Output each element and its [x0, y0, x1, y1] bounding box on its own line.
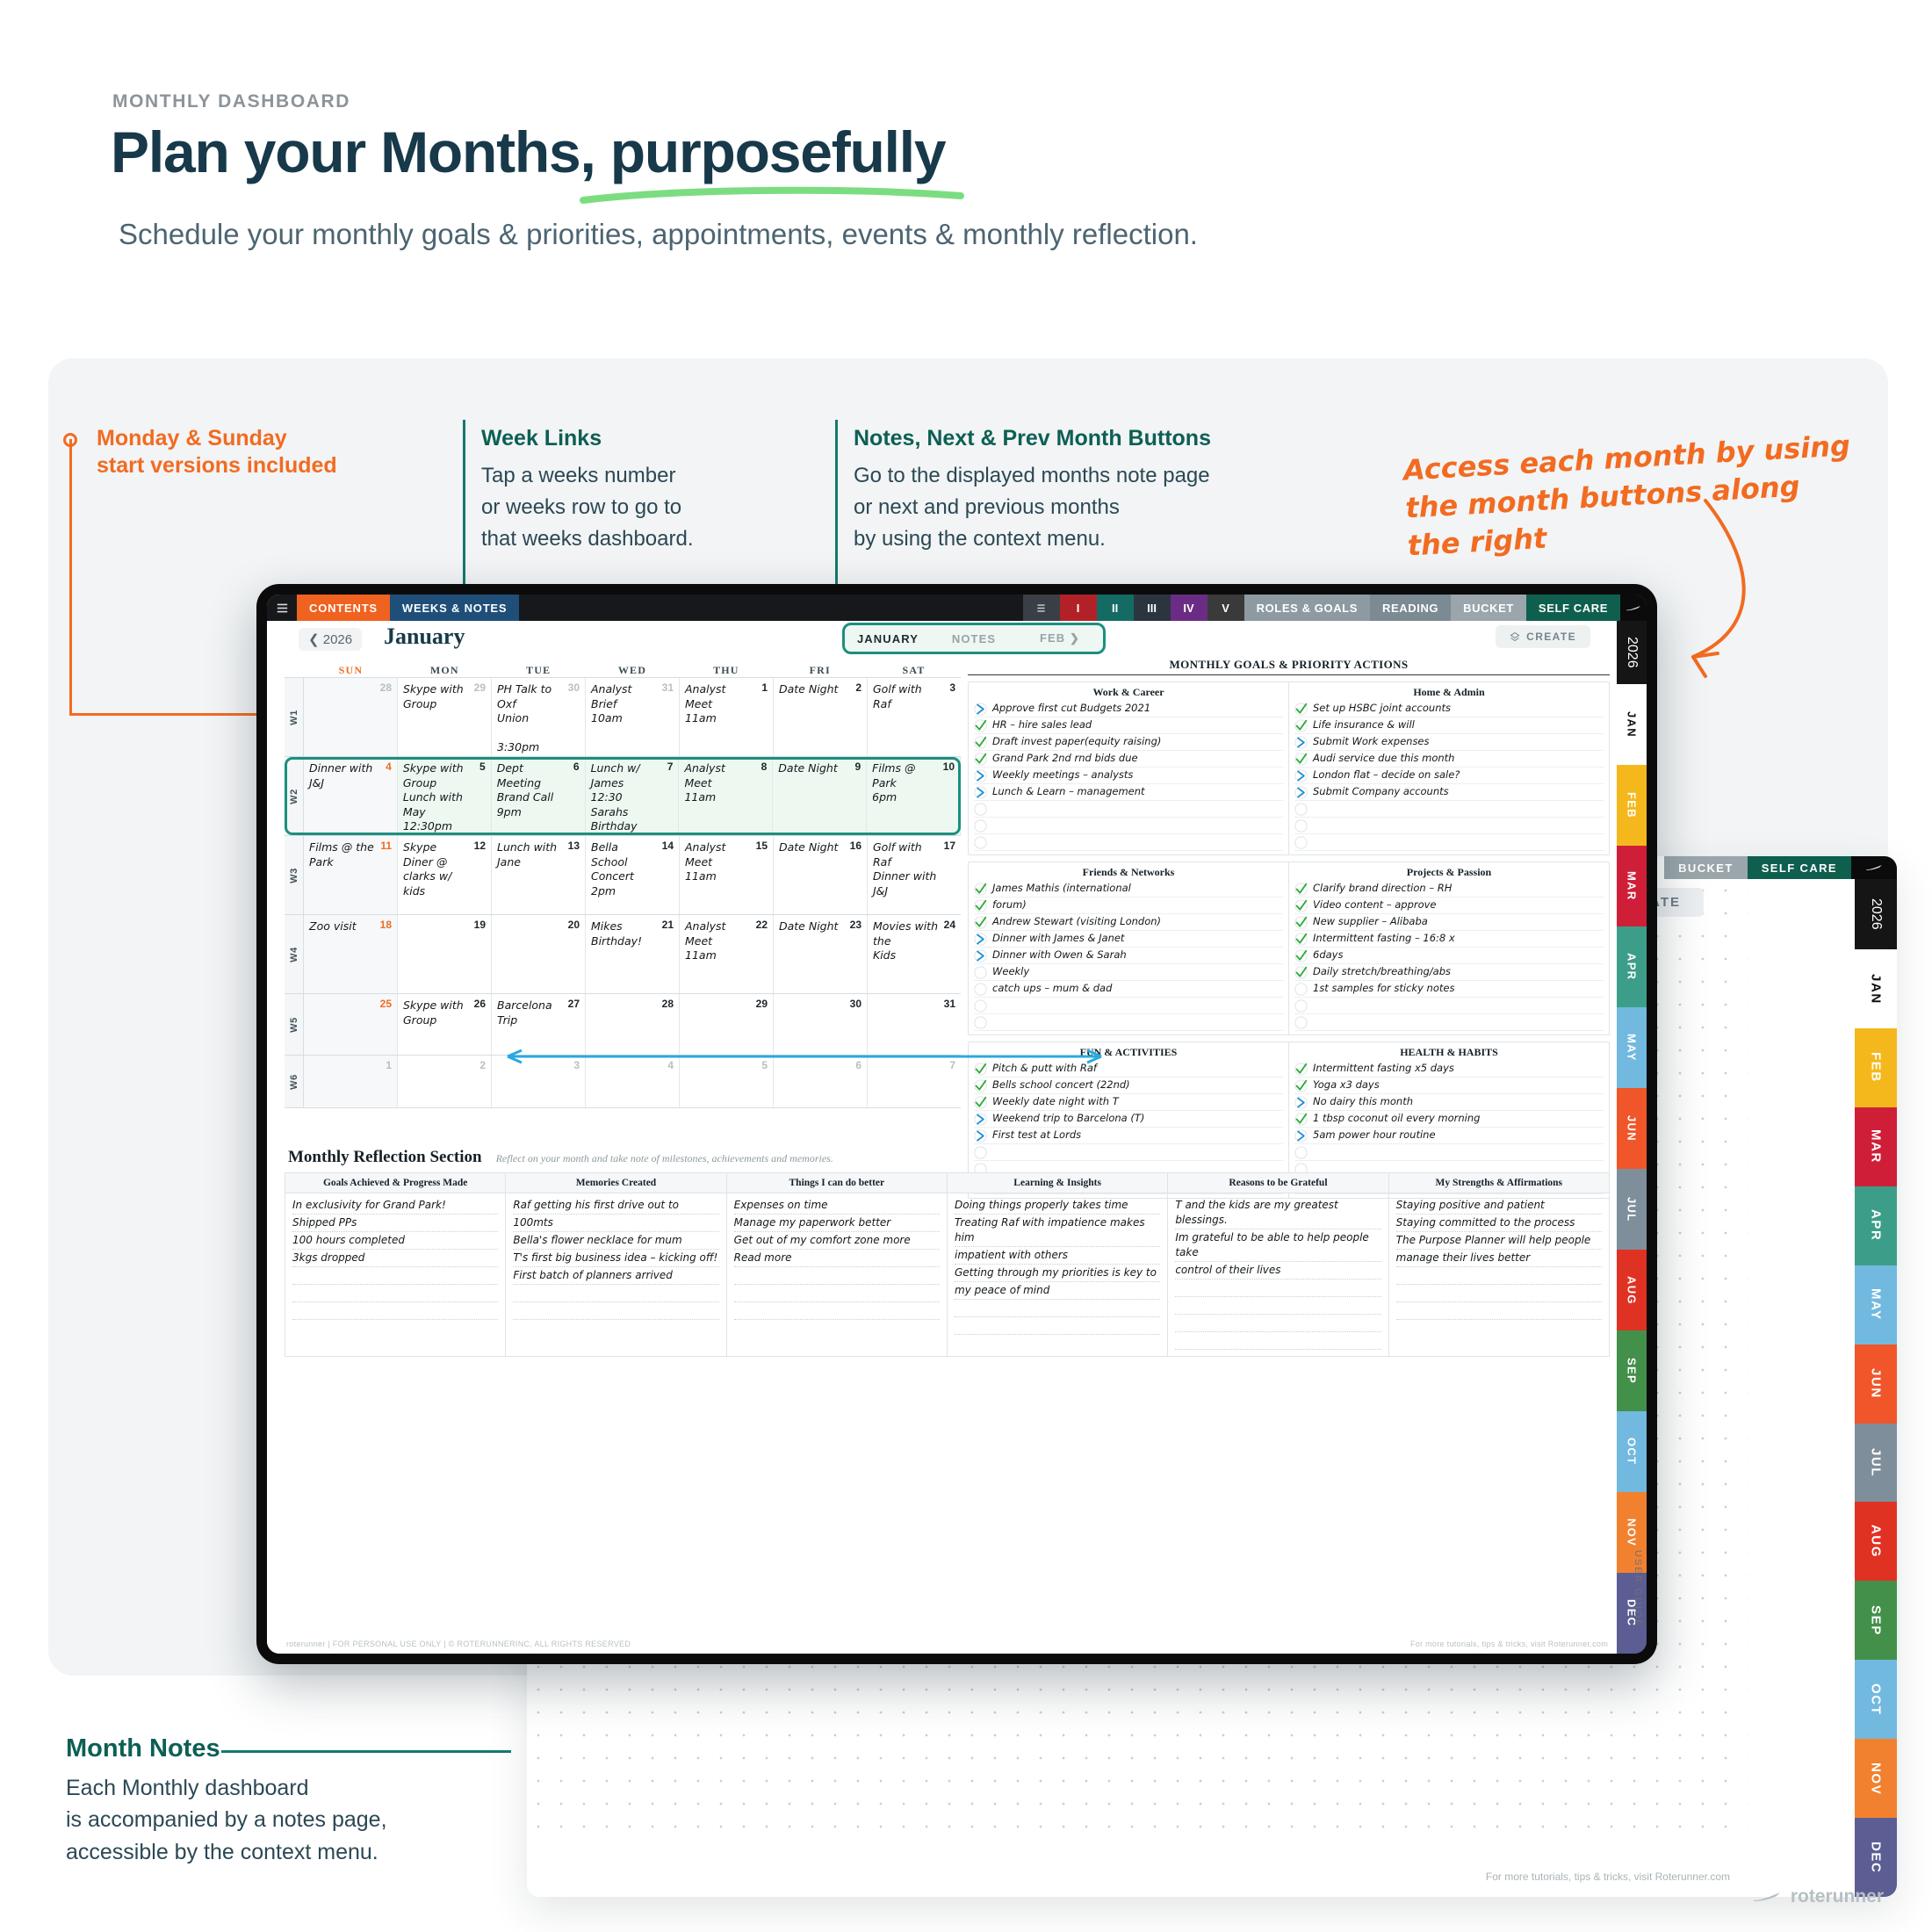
goal-item[interactable]: 6days	[1294, 948, 1604, 964]
toolbar-weeks-notes-button[interactable]: WEEKS & NOTES	[390, 595, 519, 621]
goal-item[interactable]	[974, 818, 1283, 834]
reflection-line[interactable]	[292, 1302, 498, 1320]
reflection-line[interactable]: Get out of my comfort zone more	[734, 1232, 940, 1250]
month-tab-sep[interactable]: SEP	[1617, 1330, 1647, 1411]
goal-item[interactable]: James Mathis (international	[974, 881, 1283, 898]
month-tab-oct[interactable]: OCT	[1617, 1411, 1647, 1492]
reflection-line[interactable]	[1175, 1280, 1381, 1297]
goal-item[interactable]: Daily stretch/breathing/abs	[1294, 964, 1604, 981]
reflection-line[interactable]	[1175, 1332, 1381, 1350]
context-menu-next-month[interactable]: FEB ❯	[1017, 631, 1103, 645]
reflection-line[interactable]: Staying positive and patient	[1396, 1197, 1602, 1215]
month-tab-mar[interactable]: MAR	[1617, 846, 1647, 926]
empty-circle-icon[interactable]	[974, 819, 987, 833]
reflection-lines[interactable]: T and the kids are my greatest blessings…	[1168, 1193, 1388, 1353]
calendar-week-row[interactable]: W52526Skype with Group27Barcelona Trip28…	[285, 994, 961, 1056]
calendar-week-row[interactable]: W311Films @ the Park12SkypeDiner @ clark…	[285, 836, 961, 915]
goal-status-marker[interactable]	[974, 736, 987, 749]
toolbar-right-group[interactable]: IIIIIIIVVROLES & GOALSREADINGBUCKETSELF …	[1023, 595, 1647, 621]
reflection-line[interactable]	[1396, 1285, 1602, 1302]
week-link-w1[interactable]: W1	[285, 678, 304, 756]
list-icon[interactable]	[1023, 595, 1060, 621]
goal-status-marker[interactable]	[974, 769, 987, 782]
goal-status-marker[interactable]	[974, 1129, 987, 1143]
goal-status-marker[interactable]	[974, 999, 987, 1013]
day-number[interactable]: 1	[386, 1059, 392, 1071]
reflection-line[interactable]: T's first big business idea – kicking of…	[513, 1250, 718, 1267]
calendar-day-cell[interactable]: 30PH Talk to OxfUnion3:30pm	[492, 678, 586, 756]
month-tab-oct[interactable]: OCT	[1855, 1660, 1897, 1739]
checkmark-icon[interactable]	[1294, 753, 1308, 766]
calendar-day-cell[interactable]: 31Analyst Brief10amBudget Meeting 2pm	[586, 678, 680, 756]
goal-status-marker[interactable]	[974, 836, 987, 849]
year-tab[interactable]: 2026	[1617, 621, 1647, 684]
year-tab[interactable]: 2026	[1855, 879, 1897, 949]
reflection-line[interactable]: 100 hours completed	[292, 1232, 498, 1250]
day-number[interactable]: 16	[850, 840, 861, 852]
goal-item[interactable]: Approve first cut Budgets 2021	[974, 701, 1283, 717]
reflection-line[interactable]: my peace of mind	[955, 1282, 1160, 1300]
goal-item[interactable]	[974, 1014, 1283, 1031]
goal-status-marker[interactable]	[974, 1079, 987, 1092]
empty-circle-icon[interactable]	[974, 999, 987, 1013]
arrow-forward-icon[interactable]	[974, 1129, 987, 1143]
month-tab-jun[interactable]: JUN	[1617, 1088, 1647, 1169]
week-link-w2[interactable]: W2	[285, 757, 304, 835]
goal-status-marker[interactable]	[1294, 1096, 1308, 1109]
reflection-line[interactable]: control of their lives	[1175, 1262, 1381, 1280]
day-number[interactable]: 17	[944, 840, 955, 852]
empty-circle-icon[interactable]	[1294, 983, 1308, 996]
month-tab-jul[interactable]: JUL	[1855, 1424, 1897, 1503]
goal-item[interactable]	[1294, 834, 1604, 851]
month-tab-jun[interactable]: JUN	[1855, 1344, 1897, 1424]
toolbar-section-roles-goals[interactable]: ROLES & GOALS	[1244, 595, 1370, 621]
day-events[interactable]: Lunch w/ James12:30Sarahs Birthday	[591, 761, 674, 834]
day-number[interactable]: 24	[944, 919, 955, 931]
day-events[interactable]: Analyst Meet11am	[685, 682, 768, 726]
reflection-line[interactable]: Im grateful to be able to help people ta…	[1175, 1229, 1381, 1262]
empty-circle-icon[interactable]	[1294, 836, 1308, 849]
goal-status-marker[interactable]	[974, 719, 987, 732]
arrow-forward-icon[interactable]	[1294, 1129, 1308, 1143]
reflection-lines[interactable]: In exclusivity for Grand Park!Shipped PP…	[285, 1193, 505, 1323]
checkmark-icon[interactable]	[974, 1063, 987, 1076]
reflection-line[interactable]: Doing things properly takes time	[955, 1197, 1160, 1215]
reflection-line[interactable]: Getting through my priorities is key to	[955, 1265, 1160, 1282]
calendar-day-cell[interactable]: 7Lunch w/ James12:30Sarahs Birthday	[586, 757, 680, 835]
checkmark-icon[interactable]	[1294, 883, 1308, 896]
day-number[interactable]: 26	[474, 998, 486, 1010]
reflection-line[interactable]	[734, 1285, 940, 1302]
day-events[interactable]: Date Night	[778, 761, 861, 776]
month-tab-apr[interactable]: APR	[1855, 1186, 1897, 1265]
calendar-day-cell[interactable]: 2Date Night	[774, 678, 868, 756]
goal-item[interactable]: Life insurance & will	[1294, 717, 1604, 734]
day-events[interactable]: Date Night	[779, 682, 861, 697]
goal-item[interactable]: Set up HSBC joint accounts	[1294, 701, 1604, 717]
secondary-toolbar-self-care[interactable]: SELF CARE	[1748, 856, 1851, 879]
day-number[interactable]: 29	[756, 998, 768, 1010]
goal-status-marker[interactable]	[1294, 703, 1308, 716]
day-number[interactable]: 10	[943, 761, 955, 773]
reflection-line[interactable]: Manage my paperwork better	[734, 1215, 940, 1232]
goal-status-marker[interactable]	[1294, 753, 1308, 766]
reflection-lines[interactable]: Raf getting his first drive out to100mts…	[506, 1193, 725, 1323]
goal-status-marker[interactable]	[974, 899, 987, 912]
calendar-day-cell[interactable]: 30	[774, 994, 868, 1055]
day-number[interactable]: 2	[855, 681, 861, 694]
arrow-forward-icon[interactable]	[974, 949, 987, 962]
toolbar-numeral-iv[interactable]: IV	[1171, 595, 1207, 621]
checkmark-icon[interactable]	[1294, 703, 1308, 716]
month-tab-aug[interactable]: AUG	[1855, 1502, 1897, 1581]
checkmark-icon[interactable]	[1294, 916, 1308, 929]
calendar-day-cell[interactable]: 19	[398, 915, 492, 993]
goal-status-marker[interactable]	[974, 786, 987, 799]
goal-item[interactable]: Weekly meetings – analysts	[974, 768, 1283, 784]
goal-status-marker[interactable]	[974, 753, 987, 766]
calendar-day-cell[interactable]: 17Golf with RafDinner with J&J	[868, 836, 961, 914]
month-tab-dec[interactable]: DEC	[1855, 1818, 1897, 1897]
calendar-week-row[interactable]: W12829Skype with Group30PH Talk to OxfUn…	[285, 678, 961, 757]
goal-status-marker[interactable]	[974, 1063, 987, 1076]
goals-blocks[interactable]: Work & CareerApprove first cut Budgets 2…	[968, 681, 1610, 1199]
goal-item[interactable]	[1294, 1014, 1604, 1031]
goal-item[interactable]: Yoga x3 days	[1294, 1078, 1604, 1094]
goal-item[interactable]: HR – hire sales lead	[974, 717, 1283, 734]
context-menu-current-month[interactable]: JANUARY	[845, 632, 931, 645]
checkmark-icon[interactable]	[974, 736, 987, 749]
calendar-day-cell[interactable]: 3Golf with Raf	[868, 678, 961, 756]
empty-circle-icon[interactable]	[974, 983, 987, 996]
arrow-forward-icon[interactable]	[1294, 786, 1308, 799]
goal-item[interactable]	[1294, 818, 1604, 834]
month-tab-feb[interactable]: FEB	[1855, 1028, 1897, 1107]
empty-circle-icon[interactable]	[974, 966, 987, 979]
goal-status-marker[interactable]	[1294, 916, 1308, 929]
reflection-lines[interactable]: Expenses on timeManage my paperwork bett…	[727, 1193, 947, 1323]
reflection-line[interactable]: 100mts	[513, 1215, 718, 1232]
month-tab-mar[interactable]: MAR	[1855, 1107, 1897, 1186]
context-menu[interactable]: JANUARY NOTES FEB ❯	[842, 623, 1106, 654]
calendar-day-cell[interactable]: 9Date Night	[773, 757, 867, 835]
calendar-day-cell[interactable]: 1	[304, 1056, 398, 1107]
arrow-forward-icon[interactable]	[974, 933, 987, 946]
toolbar-numeral-v[interactable]: V	[1207, 595, 1244, 621]
reflection-line[interactable]: T and the kids are my greatest blessings…	[1175, 1197, 1381, 1229]
reflection-line[interactable]: impatient with others	[955, 1247, 1160, 1265]
calendar-day-cell[interactable]: 8Analyst Meet11am	[679, 757, 773, 835]
week-link-w4[interactable]: W4	[285, 915, 304, 993]
reflection-line[interactable]	[513, 1302, 718, 1320]
checkmark-icon[interactable]	[1294, 1079, 1308, 1092]
goal-item[interactable]: 1 tbsp coconut oil every morning	[1294, 1111, 1604, 1128]
reflection-line[interactable]	[292, 1285, 498, 1302]
day-number[interactable]: 19	[474, 919, 486, 931]
calendar-day-cell[interactable]: 4Dinner with J&J	[304, 757, 398, 835]
month-tab-nov[interactable]: NOV	[1855, 1739, 1897, 1818]
goal-item[interactable]: Andrew Stewart (visiting London)	[974, 914, 1283, 931]
month-tab-may[interactable]: MAY	[1855, 1265, 1897, 1344]
calendar-day-cell[interactable]: 27Barcelona Trip	[492, 994, 586, 1055]
reflection-line[interactable]: manage their lives better	[1396, 1250, 1602, 1267]
goal-item[interactable]	[974, 801, 1283, 818]
day-number[interactable]: 29	[474, 681, 486, 694]
reflection-lines[interactable]: Doing things properly takes timeTreating…	[948, 1193, 1167, 1338]
secondary-toolbar-bucket[interactable]: BUCKET	[1664, 856, 1748, 879]
calendar-day-cell[interactable]: 13Lunch with Jane	[492, 836, 586, 914]
goal-status-marker[interactable]	[974, 1113, 987, 1126]
goal-item[interactable]: Weekly date night with T	[974, 1094, 1283, 1111]
goal-status-marker[interactable]	[1294, 949, 1308, 962]
goal-item[interactable]: Draft invest paper(equity raising)	[974, 734, 1283, 751]
toolbar-numeral-ii[interactable]: II	[1097, 595, 1134, 621]
day-number[interactable]: 18	[380, 919, 392, 931]
arrow-forward-icon[interactable]	[1294, 736, 1308, 749]
calendar-day-cell[interactable]: 24Movies with theKids	[868, 915, 961, 993]
day-number[interactable]: 15	[756, 840, 768, 852]
goal-item[interactable]: Dinner with James & Janet	[974, 931, 1283, 948]
calendar-day-cell[interactable]: 23Date Night	[774, 915, 868, 993]
day-number[interactable]: 25	[380, 998, 392, 1010]
checkmark-icon[interactable]	[1294, 933, 1308, 946]
day-number[interactable]: 4	[386, 761, 392, 773]
goal-status-marker[interactable]	[1294, 1113, 1308, 1126]
goal-status-marker[interactable]	[974, 983, 987, 996]
day-number[interactable]: 22	[756, 919, 768, 931]
goal-item[interactable]	[974, 998, 1283, 1014]
arrow-forward-icon[interactable]	[974, 703, 987, 716]
goal-status-marker[interactable]	[974, 916, 987, 929]
calendar-day-cell[interactable]: 28	[586, 994, 680, 1055]
reflection-line[interactable]	[955, 1317, 1160, 1335]
toolbar-numeral-iii[interactable]: III	[1134, 595, 1171, 621]
goal-item[interactable]: catch ups – mum & dad	[974, 981, 1283, 998]
day-number[interactable]: 30	[568, 681, 580, 694]
context-menu-notes[interactable]: NOTES	[931, 632, 1017, 645]
week-link-w3[interactable]: W3	[285, 836, 304, 914]
calendar-day-cell[interactable]: 21Mikes Birthday!	[586, 915, 680, 993]
goal-item[interactable]	[1294, 998, 1604, 1014]
checkmark-icon[interactable]	[1294, 966, 1308, 979]
checkmark-icon[interactable]	[1294, 899, 1308, 912]
create-button[interactable]: CREATE	[1496, 625, 1590, 648]
reflection-line[interactable]	[1396, 1267, 1602, 1285]
month-tab-strip[interactable]: 2026JANFEBMARAPRMAYJUNJULAUGSEPOCTNOVDEC	[1617, 621, 1647, 1654]
goal-status-marker[interactable]	[1294, 803, 1308, 816]
goal-item[interactable]: New supplier – Alibaba	[1294, 914, 1604, 931]
day-number[interactable]: 13	[568, 840, 580, 852]
empty-circle-icon[interactable]	[974, 1016, 987, 1029]
goal-status-marker[interactable]	[1294, 999, 1308, 1013]
week-link-w6[interactable]: W6	[285, 1056, 304, 1107]
day-number[interactable]: 31	[662, 681, 674, 694]
day-number[interactable]: 12	[474, 840, 486, 852]
day-number[interactable]: 11	[380, 840, 392, 852]
arrow-forward-icon[interactable]	[974, 769, 987, 782]
reflection-line[interactable]: Bella's flower necklace for mum	[513, 1232, 718, 1250]
month-tab-aug[interactable]: AUG	[1617, 1250, 1647, 1330]
goal-status-marker[interactable]	[974, 933, 987, 946]
empty-circle-icon[interactable]	[1294, 1016, 1308, 1029]
goal-item[interactable]: Clarify brand direction – RH	[1294, 881, 1604, 898]
day-number[interactable]: 6	[573, 761, 580, 773]
calendar-day-cell[interactable]: 6Dept MeetingBrand Call 9pm	[492, 757, 586, 835]
day-number[interactable]: 31	[944, 998, 955, 1010]
goal-status-marker[interactable]	[1294, 1016, 1308, 1029]
goal-item[interactable]: forum)	[974, 898, 1283, 914]
checkmark-icon[interactable]	[1294, 1113, 1308, 1126]
goal-item[interactable]: Weekly	[974, 964, 1283, 981]
goal-item[interactable]: Grand Park 2nd rnd bids due	[974, 751, 1283, 768]
day-number[interactable]: 28	[380, 681, 392, 694]
empty-circle-icon[interactable]	[974, 836, 987, 849]
reflection-line[interactable]	[513, 1285, 718, 1302]
goal-item[interactable]: First test at Lords	[974, 1128, 1283, 1144]
checkmark-icon[interactable]	[974, 899, 987, 912]
goal-status-marker[interactable]	[1294, 836, 1308, 849]
day-events[interactable]: Skype with GroupLunch with May12:30pm	[403, 761, 486, 834]
menu-icon[interactable]	[267, 595, 297, 621]
goal-status-marker[interactable]	[1294, 1129, 1308, 1143]
day-events[interactable]: Films @ the Park	[309, 840, 392, 869]
goal-status-marker[interactable]	[1294, 899, 1308, 912]
goal-status-marker[interactable]	[974, 949, 987, 962]
goal-status-marker[interactable]	[1294, 883, 1308, 896]
goal-status-marker[interactable]	[1294, 1079, 1308, 1092]
calendar-day-cell[interactable]: 20	[492, 915, 586, 993]
goal-status-marker[interactable]	[974, 803, 987, 816]
checkmark-icon[interactable]	[974, 883, 987, 896]
goal-status-marker[interactable]	[974, 883, 987, 896]
month-tab-jan[interactable]: JAN	[1617, 684, 1647, 765]
empty-circle-icon[interactable]	[1294, 819, 1308, 833]
goal-item[interactable]: London flat – decide on sale?	[1294, 768, 1604, 784]
reflection-line[interactable]: Raf getting his first drive out to	[513, 1197, 718, 1215]
reflection-line[interactable]: Treating Raf with impatience makes him	[955, 1215, 1160, 1247]
secondary-month-tab-strip[interactable]: 2026JANFEBMARAPRMAYJUNJULAUGSEPOCTNOVDEC	[1855, 879, 1897, 1897]
calendar-day-cell[interactable]: 10Films @ Park6pm	[867, 757, 961, 835]
goal-item[interactable]: Bells school concert (22nd)	[974, 1078, 1283, 1094]
day-number[interactable]: 28	[662, 998, 674, 1010]
goal-item[interactable]: Lunch & Learn – management	[974, 784, 1283, 801]
reflection-line[interactable]: The Purpose Planner will help people	[1396, 1232, 1602, 1250]
goal-status-marker[interactable]	[974, 1016, 987, 1029]
user-guide-tab[interactable]: USER GUIDE	[1633, 1550, 1643, 1627]
goal-item[interactable]: Weekend trip to Barcelona (T)	[974, 1111, 1283, 1128]
calendar-day-cell[interactable]: 26Skype with Group	[398, 994, 492, 1055]
reflection-line[interactable]: Staying committed to the process	[1396, 1215, 1602, 1232]
reflection-line[interactable]	[1396, 1302, 1602, 1320]
calendar-day-cell[interactable]: 2	[398, 1056, 492, 1107]
calendar-day-cell[interactable]: 1Analyst Meet11am	[680, 678, 774, 756]
calendar-day-cell[interactable]: 22Analyst Meet11am	[680, 915, 774, 993]
goal-status-marker[interactable]	[974, 1096, 987, 1109]
reflection-line[interactable]	[734, 1302, 940, 1320]
reflection-line[interactable]	[292, 1267, 498, 1285]
calendar-day-cell[interactable]: 18Zoo visit	[304, 915, 398, 993]
calendar-day-cell[interactable]: 28	[304, 678, 398, 756]
day-number[interactable]: 1	[761, 681, 768, 694]
calendar-day-cell[interactable]: 15Analyst Meet11am	[680, 836, 774, 914]
empty-circle-icon[interactable]	[1294, 803, 1308, 816]
day-number[interactable]: 14	[662, 840, 674, 852]
calendar-day-cell[interactable]: 16Date Night	[774, 836, 868, 914]
day-number[interactable]: 27	[568, 998, 580, 1010]
goal-item[interactable]: Submit Company accounts	[1294, 784, 1604, 801]
calendar-day-cell[interactable]: 14Bella SchoolConcert 2pm	[586, 836, 680, 914]
reflection-line[interactable]: Shipped PPs	[292, 1215, 498, 1232]
calendar-day-cell[interactable]: 29Skype with Group	[398, 678, 492, 756]
checkmark-icon[interactable]	[1294, 719, 1308, 732]
goal-item[interactable]: Dinner with Owen & Sarah	[974, 948, 1283, 964]
goal-item[interactable]: Submit Work expenses	[1294, 734, 1604, 751]
checkmark-icon[interactable]	[974, 1096, 987, 1109]
goal-status-marker[interactable]	[1294, 966, 1308, 979]
day-number[interactable]: 8	[761, 761, 768, 773]
goal-item[interactable]	[1294, 801, 1604, 818]
day-events[interactable]: Dept MeetingBrand Call 9pm	[497, 761, 580, 819]
day-number[interactable]: 20	[568, 919, 580, 931]
arrow-forward-icon[interactable]	[974, 1113, 987, 1126]
calendar-day-cell[interactable]: 29	[680, 994, 774, 1055]
day-number[interactable]: 21	[662, 919, 674, 931]
toolbar-numeral-i[interactable]: I	[1060, 595, 1097, 621]
calendar-day-cell[interactable]: 11Films @ the Park	[304, 836, 398, 914]
calendar-day-cell[interactable]: 25	[304, 994, 398, 1055]
empty-circle-icon[interactable]	[1294, 999, 1308, 1013]
month-tab-jan[interactable]: JAN	[1855, 949, 1897, 1028]
reflection-line[interactable]: Read more	[734, 1250, 940, 1267]
month-tab-jul[interactable]: JUL	[1617, 1169, 1647, 1250]
reflection-line[interactable]: In exclusivity for Grand Park!	[292, 1197, 498, 1215]
empty-circle-icon[interactable]	[974, 803, 987, 816]
goal-status-marker[interactable]	[1294, 933, 1308, 946]
checkmark-icon[interactable]	[1294, 949, 1308, 962]
goal-status-marker[interactable]	[974, 819, 987, 833]
reflection-line[interactable]	[734, 1267, 940, 1285]
goal-item[interactable]	[974, 834, 1283, 851]
goal-status-marker[interactable]	[1294, 719, 1308, 732]
day-events[interactable]: Dinner with J&J	[309, 761, 392, 790]
reflection-line[interactable]	[1175, 1297, 1381, 1315]
reflection-line[interactable]	[955, 1300, 1160, 1317]
day-number[interactable]: 30	[850, 998, 861, 1010]
calendar-weeks[interactable]: W12829Skype with Group30PH Talk to OxfUn…	[285, 677, 961, 1108]
goal-item[interactable]: No dairy this month	[1294, 1094, 1604, 1111]
goal-item[interactable]: 1st samples for sticky notes	[1294, 981, 1604, 998]
calendar-day-cell[interactable]: 5Skype with GroupLunch with May12:30pm	[398, 757, 492, 835]
toolbar-contents-button[interactable]: CONTENTS	[297, 595, 390, 621]
day-number[interactable]: 2	[479, 1059, 486, 1071]
checkmark-icon[interactable]	[974, 916, 987, 929]
goal-status-marker[interactable]	[1294, 736, 1308, 749]
reflection-line[interactable]: Expenses on time	[734, 1197, 940, 1215]
calendar-week-row[interactable]: W418Zoo visit192021Mikes Birthday!22Anal…	[285, 915, 961, 994]
calendar-day-cell[interactable]: 12SkypeDiner @ clarks w/kids	[398, 836, 492, 914]
arrow-forward-icon[interactable]	[974, 786, 987, 799]
arrow-forward-icon[interactable]	[1294, 769, 1308, 782]
toolbar-section-reading[interactable]: READING	[1370, 595, 1451, 621]
arrow-forward-icon[interactable]	[1294, 1096, 1308, 1109]
month-tab-may[interactable]: MAY	[1617, 1007, 1647, 1088]
day-number[interactable]: 7	[667, 761, 674, 773]
toolbar-section-bucket[interactable]: BUCKET	[1451, 595, 1526, 621]
week-link-w5[interactable]: W5	[285, 994, 304, 1055]
goal-status-marker[interactable]	[974, 703, 987, 716]
goal-status-marker[interactable]	[1294, 1063, 1308, 1076]
